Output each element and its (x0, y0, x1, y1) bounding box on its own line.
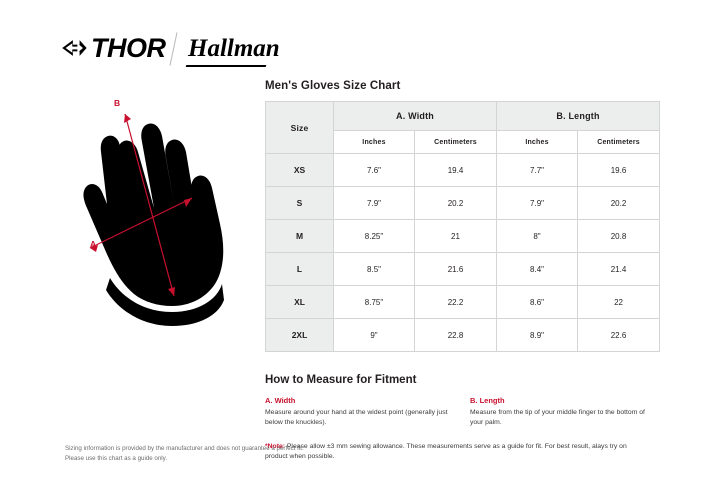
illustration-label-a: A (90, 239, 96, 249)
cell-width-inches: 9" (334, 319, 415, 352)
length-description: Measure from the tip of your middle fing… (470, 408, 659, 428)
cell-width-inches: 8.75" (334, 286, 415, 319)
header-length-group: B. Length (497, 102, 660, 131)
hand-measurement-illustration: B A (62, 100, 252, 330)
chart-column: Men's Gloves Size Chart Size A. Width B.… (265, 80, 659, 462)
logo-divider (169, 32, 177, 65)
header-width-inches: Inches (334, 131, 415, 154)
cell-length-inches: 8.6" (497, 286, 578, 319)
cell-width-inches: 7.9" (334, 187, 415, 220)
hallman-underline (186, 65, 267, 67)
cell-width-inches: 7.6" (334, 154, 415, 187)
cell-width-centimeters: 21 (415, 220, 497, 253)
length-heading: B. Length (470, 396, 659, 405)
page-title: Men's Gloves Size Chart (265, 80, 659, 92)
table-row: XL 8.75" 22.2 8.6" 22 (266, 286, 660, 319)
cell-length-inches: 8" (497, 220, 578, 253)
hand-silhouette-icon (62, 100, 252, 330)
cell-width-centimeters: 20.2 (415, 187, 497, 220)
cell-width-centimeters: 22.8 (415, 319, 497, 352)
width-description: Measure around your hand at the widest p… (265, 408, 454, 428)
cell-length-centimeters: 19.6 (578, 154, 660, 187)
hallman-wordmark: Hallman (188, 35, 280, 63)
cell-width-centimeters: 21.6 (415, 253, 497, 286)
cell-size: XS (266, 154, 334, 187)
size-chart-page: THOR Hallman B A Men's Gloves Size Chart (0, 0, 720, 492)
cell-length-centimeters: 20.2 (578, 187, 660, 220)
header-length-centimeters: Centimeters (578, 131, 660, 154)
cell-length-inches: 8.9" (497, 319, 578, 352)
cell-width-inches: 8.25" (334, 220, 415, 253)
measurement-note: *Note: Please allow ±3 mm sewing allowan… (265, 442, 650, 462)
cell-length-centimeters: 21.4 (578, 253, 660, 286)
cell-size: 2XL (266, 319, 334, 352)
cell-length-inches: 7.9" (497, 187, 578, 220)
header-width-group: A. Width (334, 102, 497, 131)
thor-hammer-icon (60, 34, 88, 62)
footer-line-2: Please use this chart as a guide only. (65, 454, 304, 464)
how-to-measure-length: B. Length Measure from the tip of your m… (470, 396, 659, 428)
cell-width-inches: 8.5" (334, 253, 415, 286)
cell-length-centimeters: 22.6 (578, 319, 660, 352)
table-row: XS 7.6" 19.4 7.7" 19.6 (266, 154, 660, 187)
width-heading: A. Width (265, 396, 454, 405)
header-width-centimeters: Centimeters (415, 131, 497, 154)
how-to-measure-width: A. Width Measure around your hand at the… (265, 396, 454, 428)
thor-logo: THOR (60, 34, 166, 62)
cell-size: M (266, 220, 334, 253)
table-row: 2XL 9" 22.8 8.9" 22.6 (266, 319, 660, 352)
illustration-label-b: B (114, 98, 120, 108)
brand-logos: THOR Hallman (60, 32, 280, 74)
cell-width-centimeters: 22.2 (415, 286, 497, 319)
cell-size: XL (266, 286, 334, 319)
size-chart-table: Size A. Width B. Length Inches Centimete… (265, 101, 660, 352)
header-length-inches: Inches (497, 131, 578, 154)
cell-size: L (266, 253, 334, 286)
cell-length-centimeters: 20.8 (578, 220, 660, 253)
footer-line-1: Sizing information is provided by the ma… (65, 444, 304, 454)
cell-size: S (266, 187, 334, 220)
footer-disclaimer: Sizing information is provided by the ma… (65, 444, 304, 463)
cell-length-inches: 7.7" (497, 154, 578, 187)
how-to-measure-section: How to Measure for Fitment A. Width Meas… (265, 374, 659, 462)
table-row: L 8.5" 21.6 8.4" 21.4 (266, 253, 660, 286)
table-row: M 8.25" 21 8" 20.8 (266, 220, 660, 253)
how-to-measure-title: How to Measure for Fitment (265, 374, 659, 386)
note-text: Please allow ±3 mm sewing allowance. The… (265, 443, 627, 460)
cell-length-centimeters: 22 (578, 286, 660, 319)
table-header-row-groups: Size A. Width B. Length (266, 102, 660, 131)
cell-length-inches: 8.4" (497, 253, 578, 286)
table-row: S 7.9" 20.2 7.9" 20.2 (266, 187, 660, 220)
thor-wordmark: THOR (91, 35, 166, 62)
cell-width-centimeters: 19.4 (415, 154, 497, 187)
header-size: Size (266, 102, 334, 154)
